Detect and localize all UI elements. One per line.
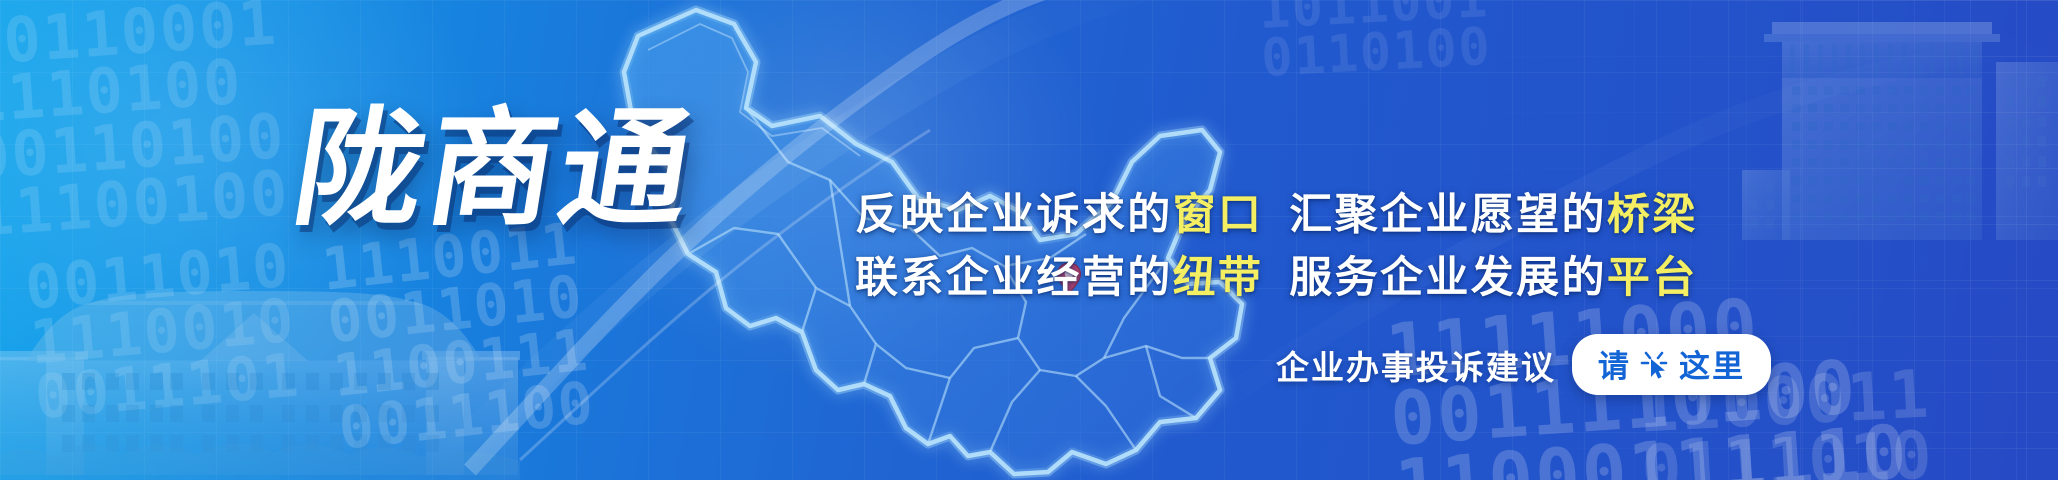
click-cursor-icon xyxy=(1640,349,1670,381)
lst-promo-banner: 00110001 1110100 00110100 11100100 00110… xyxy=(0,0,2058,480)
tagline-1-segment-2: 汇聚企业愿望的 xyxy=(1289,190,1607,240)
brand-logotype: 陇商通 xyxy=(286,106,704,234)
tagline-2-segment-1: 联系企业经营的 xyxy=(855,253,1173,303)
tagline-1-segment-1: 反映企业诉求的 xyxy=(855,190,1173,240)
click-here-button-text-after: 这里 xyxy=(1679,341,1745,386)
tagline-1-highlight-2: 桥梁 xyxy=(1607,190,1698,240)
tagline-2-highlight-1: 纽带 xyxy=(1173,253,1264,303)
tagline-line-1: 反映企业诉求的窗口汇聚企业愿望的桥梁 xyxy=(855,184,1675,247)
tagline-2-segment-2: 服务企业发展的 xyxy=(1289,253,1607,303)
tagline-line-2: 联系企业经营的纽带服务企业发展的平台 xyxy=(855,247,1675,310)
cta-label: 企业办事投诉建议 xyxy=(1276,341,1556,389)
tagline-1-highlight-1: 窗口 xyxy=(1173,190,1264,240)
banner-content: 陇商通 反映企业诉求的窗口汇聚企业愿望的桥梁 联系企业经营的纽带服务企业发展的平… xyxy=(0,0,2058,480)
click-here-button[interactable]: 请 这里 xyxy=(1572,334,1772,395)
tagline-2-highlight-2: 平台 xyxy=(1607,253,1698,303)
tagline-block: 反映企业诉求的窗口汇聚企业愿望的桥梁 联系企业经营的纽带服务企业发展的平台 xyxy=(855,184,1675,310)
click-here-button-text-before: 请 xyxy=(1598,341,1631,386)
call-to-action-row: 企业办事投诉建议 请 xyxy=(1276,334,1771,395)
